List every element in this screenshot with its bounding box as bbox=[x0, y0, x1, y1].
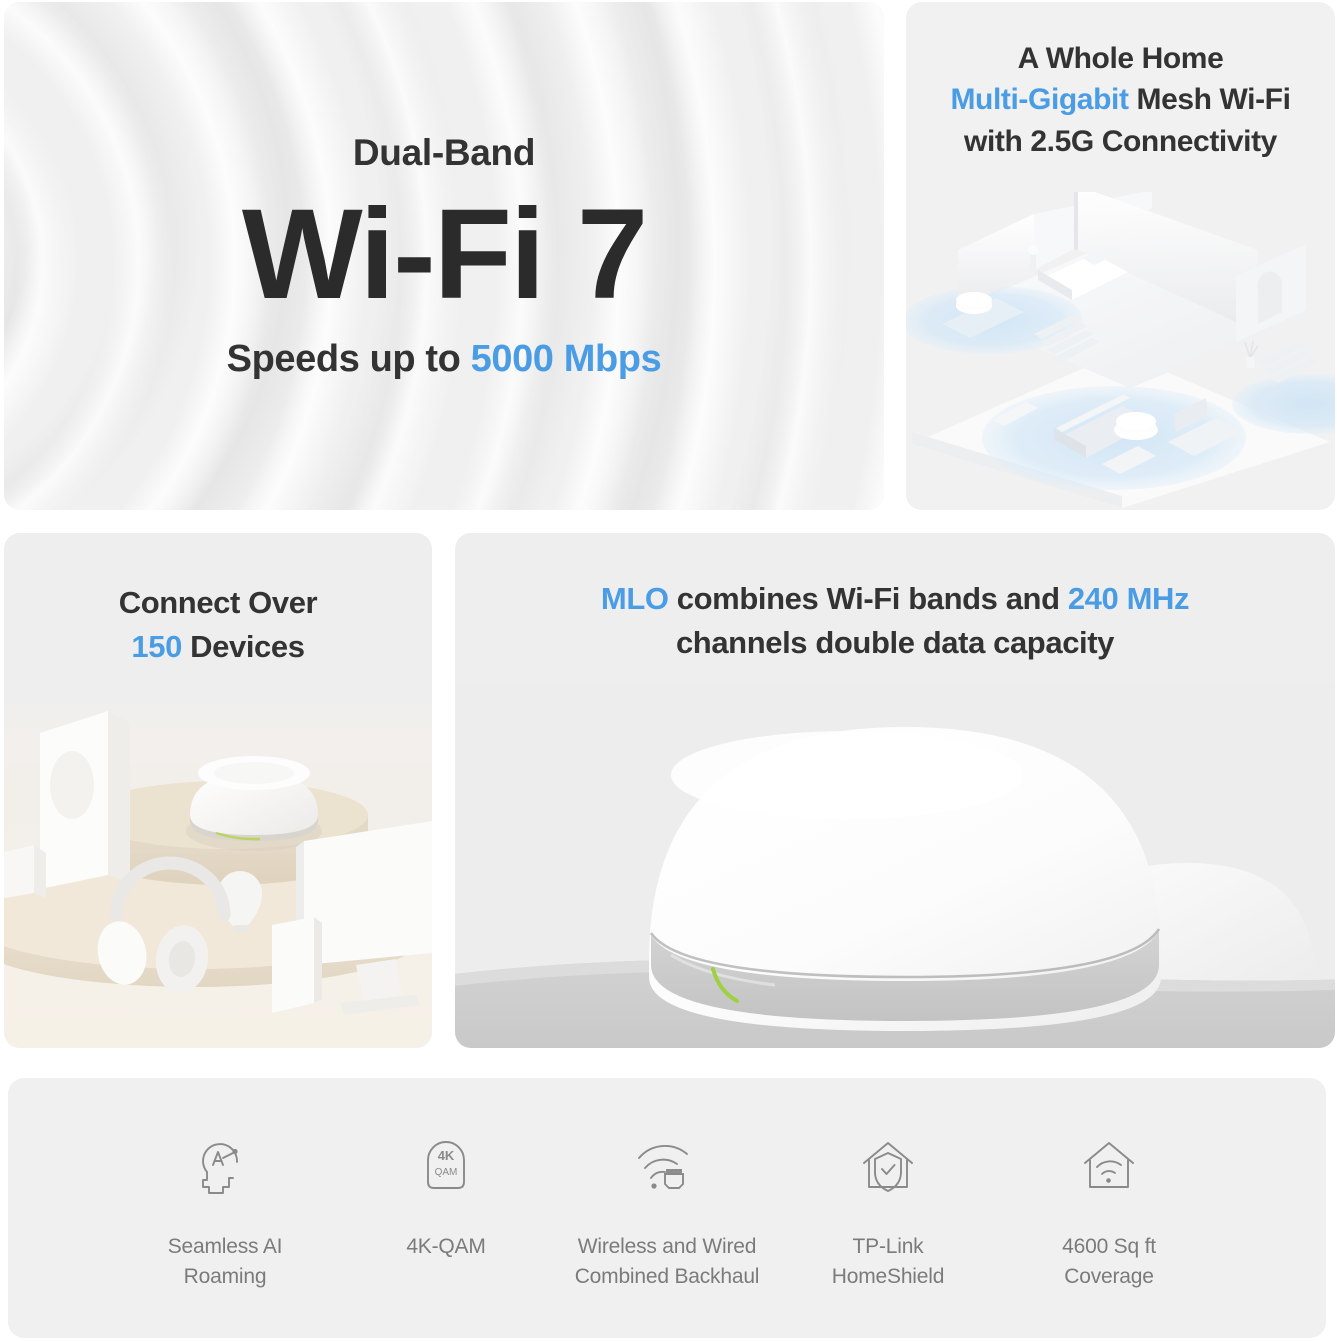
wifi7-subtitle: Speeds up to 5000 Mbps bbox=[4, 340, 884, 378]
wifi-ethernet-icon-svg bbox=[635, 1140, 699, 1196]
whole-home-text-block: A Whole Home Multi-Gigabit Mesh Wi-Fi wi… bbox=[906, 38, 1335, 162]
feature-label: Wireless and Wired Combined Backhaul bbox=[575, 1232, 760, 1292]
whole-home-line-2: Multi-Gigabit Mesh Wi-Fi bbox=[916, 79, 1325, 120]
svg-text:4K: 4K bbox=[438, 1148, 455, 1163]
mesh-router-product-photo bbox=[455, 683, 1335, 1048]
isometric-house-mesh-coverage bbox=[906, 192, 1335, 510]
feature-label: 4K-QAM bbox=[406, 1232, 485, 1262]
mlo-accent-240mhz: 240 MHz bbox=[1068, 581, 1189, 616]
devices-line-1: Connect Over bbox=[14, 581, 422, 625]
wifi-ethernet-icon bbox=[635, 1136, 699, 1200]
house-illustration-svg bbox=[906, 192, 1335, 510]
mlo-line-1: MLO combines Wi-Fi bands and 240 MHz bbox=[465, 577, 1325, 621]
wifi7-eyebrow: Dual-Band bbox=[4, 134, 884, 171]
wifi7-subtitle-speed: 5000 Mbps bbox=[471, 338, 662, 380]
panel-whole-home: A Whole Home Multi-Gigabit Mesh Wi-Fi wi… bbox=[906, 2, 1335, 510]
panel-feature-icons: Seamless AI Roaming 4K QAM 4K-QAM bbox=[8, 1078, 1326, 1338]
router-illustration-svg bbox=[455, 683, 1335, 1048]
panel-wifi7: Dual-Band Wi-Fi 7 Speeds up to 5000 Mbps bbox=[4, 2, 884, 510]
whole-home-line-2-rest: Mesh Wi-Fi bbox=[1129, 83, 1291, 116]
wifi7-title: Wi-Fi 7 bbox=[4, 179, 884, 330]
4k-qam-icon: 4K QAM bbox=[420, 1136, 472, 1200]
devices-accent-count: 150 bbox=[131, 629, 182, 664]
feature-label: TP-Link HomeShield bbox=[832, 1232, 944, 1292]
wifi7-text-block: Dual-Band Wi-Fi 7 Speeds up to 5000 Mbps bbox=[4, 134, 884, 378]
mlo-line-1-mid: combines Wi-Fi bands and bbox=[669, 581, 1068, 616]
whole-home-line-1: A Whole Home bbox=[916, 38, 1325, 79]
house-wifi-icon bbox=[1079, 1136, 1139, 1200]
feature-label: Seamless AI Roaming bbox=[168, 1232, 283, 1292]
house-shield-icon bbox=[858, 1136, 918, 1200]
mlo-text-block: MLO combines Wi-Fi bands and 240 MHz cha… bbox=[455, 577, 1335, 665]
feature-coverage-area[interactable]: 4600 Sq ft Coverage bbox=[1004, 1136, 1214, 1292]
house-wifi-icon-svg bbox=[1079, 1139, 1139, 1197]
feature-list: Seamless AI Roaming 4K QAM 4K-QAM bbox=[120, 1136, 1214, 1292]
feature-4k-qam[interactable]: 4K QAM 4K-QAM bbox=[341, 1136, 551, 1262]
ai-head-icon-svg bbox=[197, 1138, 253, 1198]
devices-text-block: Connect Over 150 Devices bbox=[4, 581, 432, 669]
svg-text:QAM: QAM bbox=[435, 1167, 458, 1178]
whole-home-accent-multigigabit: Multi-Gigabit bbox=[950, 83, 1128, 116]
feature-label: 4600 Sq ft Coverage bbox=[1062, 1232, 1156, 1292]
feature-combined-backhaul[interactable]: Wireless and Wired Combined Backhaul bbox=[562, 1136, 772, 1292]
feature-seamless-ai-roaming[interactable]: Seamless AI Roaming bbox=[120, 1136, 330, 1292]
devices-illustration-svg bbox=[4, 703, 432, 1048]
feature-homeshield[interactable]: TP-Link HomeShield bbox=[783, 1136, 993, 1292]
mlo-accent-mlo: MLO bbox=[601, 581, 669, 616]
devices-line-2-rest: Devices bbox=[182, 629, 305, 664]
4k-qam-icon-svg: 4K QAM bbox=[420, 1138, 472, 1198]
product-feature-board: Dual-Band Wi-Fi 7 Speeds up to 5000 Mbps… bbox=[0, 0, 1337, 1341]
panel-mlo: MLO combines Wi-Fi bands and 240 MHz cha… bbox=[455, 533, 1335, 1048]
mlo-line-2: channels double data capacity bbox=[465, 621, 1325, 665]
whole-home-line-3: with 2.5G Connectivity bbox=[916, 121, 1325, 162]
panel-connected-devices: Connect Over 150 Devices bbox=[4, 533, 432, 1048]
wifi7-subtitle-prefix: Speeds up to bbox=[227, 338, 471, 380]
smart-devices-podium-scene bbox=[4, 703, 432, 1048]
devices-line-2: 150 Devices bbox=[14, 625, 422, 669]
ai-head-icon bbox=[197, 1136, 253, 1200]
house-shield-icon-svg bbox=[858, 1139, 918, 1197]
